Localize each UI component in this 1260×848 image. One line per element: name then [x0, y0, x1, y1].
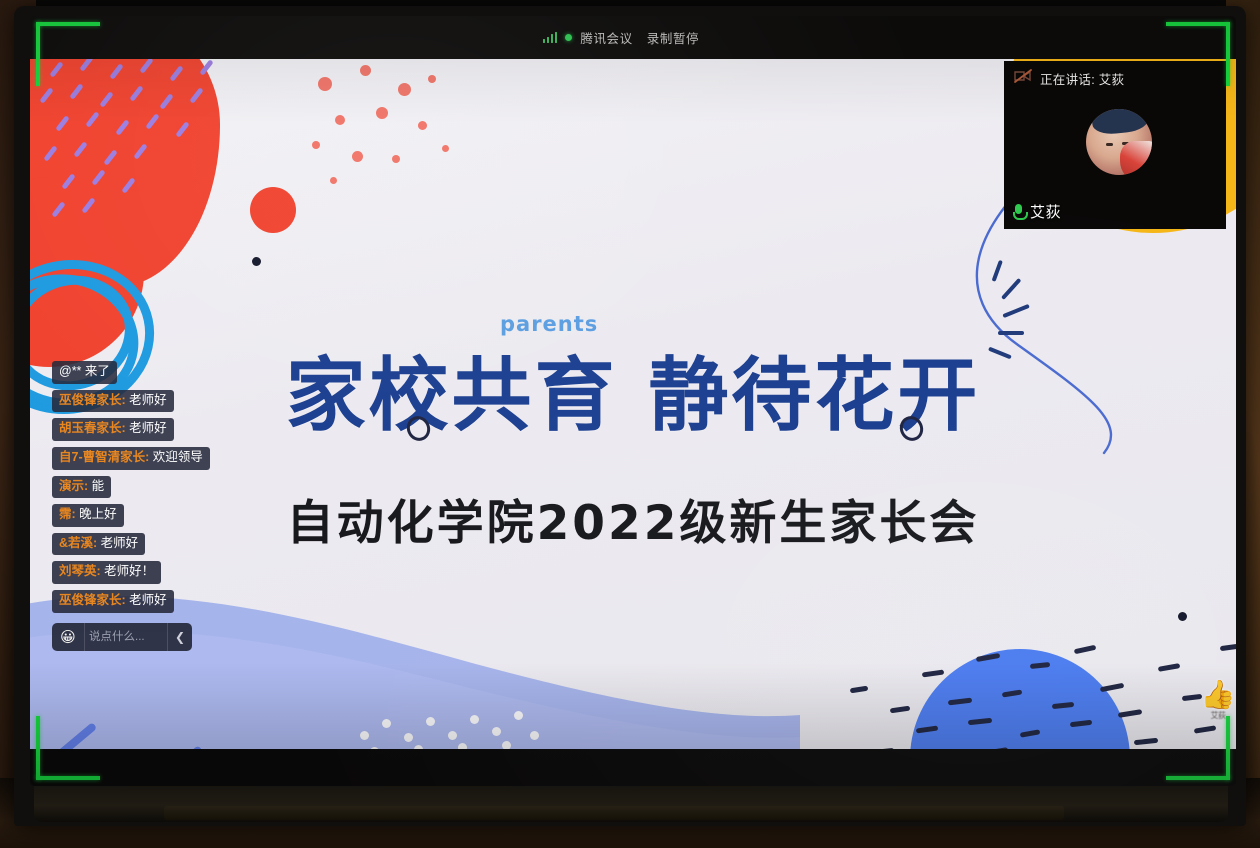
chat-sender-name: 刘琴英:	[59, 564, 104, 578]
chat-message-text: 能	[92, 479, 105, 493]
laptop-photo: 腾讯会议 录制暂停	[0, 0, 1260, 848]
thumbs-up-icon: 👍	[1197, 681, 1236, 709]
chevron-left-icon[interactable]: ❮	[167, 623, 192, 651]
app-name-label: 腾讯会议	[580, 28, 632, 47]
microphone-on-icon	[1012, 204, 1025, 219]
chat-message: 自7-曹智清家长: 欢迎领导	[52, 447, 210, 470]
participant-name-label: 艾荻	[1030, 201, 1061, 222]
chat-message-text: 老师好	[129, 421, 167, 435]
chat-message: 巫俊锋家长: 老师好	[52, 390, 174, 413]
chat-message-text: 老师好	[129, 393, 167, 407]
emoji-smiley-icon[interactable]: 😀	[52, 628, 84, 646]
recording-status-label: 录制暂停	[647, 28, 699, 47]
video-off-icon	[1014, 69, 1032, 83]
chat-sender-name: 胡玉春家长:	[59, 421, 129, 435]
laptop-device: 腾讯会议 录制暂停	[14, 6, 1246, 826]
chat-message-text: 老师好	[101, 536, 139, 550]
chat-message: &若溪: 老师好	[52, 533, 145, 556]
chat-message-text: 老师好！	[104, 564, 154, 578]
chat-sender-name: 自7-曹智清家长:	[59, 450, 153, 464]
participant-video-tile[interactable]: 正在讲话: 艾荻 艾荻	[1004, 61, 1226, 229]
chat-sender-name: 巫俊锋家长:	[59, 593, 129, 607]
chat-sender-name: &若溪:	[59, 536, 101, 550]
chat-message: 演示: 能	[52, 476, 111, 499]
chat-sender-name: 巫俊锋家长:	[59, 393, 129, 407]
meeting-status-bar: 腾讯会议 录制暂停	[30, 16, 1236, 59]
chat-message: 胡玉春家长: 老师好	[52, 418, 174, 441]
chat-message: 霈: 晚上好	[52, 504, 124, 527]
black-dot-decoration	[252, 257, 261, 266]
chat-message-text: 晚上好	[79, 507, 117, 521]
chat-sender-name: 霈:	[59, 507, 79, 521]
participant-name-badge: 艾荻	[1012, 201, 1061, 222]
avatar	[1086, 109, 1152, 175]
chat-input-bar[interactable]: 😀 说点什么... ❮	[52, 623, 192, 651]
chat-message: 刘琴英: 老师好！	[52, 561, 161, 584]
chat-message-text: 老师好	[129, 593, 167, 607]
chat-message: @** 来了	[52, 361, 117, 384]
chat-sender-name: 演示:	[59, 479, 92, 493]
green-dot-icon	[565, 34, 572, 41]
reaction-sender-label: 艾荻	[1197, 710, 1236, 721]
laptop-hinge-lip	[164, 806, 1064, 820]
speaking-status-label: 正在讲话: 艾荻	[1040, 69, 1124, 88]
black-dot-decoration-right	[1178, 612, 1187, 621]
chat-message: 巫俊锋家长: 老师好	[52, 590, 174, 613]
red-dot-decoration	[250, 187, 296, 233]
signal-bars-icon	[543, 32, 558, 43]
laptop-screen: 腾讯会议 录制暂停	[30, 16, 1236, 786]
chat-message-text: @** 来了	[59, 364, 110, 378]
meeting-chat-overlay: @** 来了巫俊锋家长: 老师好胡玉春家长: 老师好自7-曹智清家长: 欢迎领导…	[52, 361, 262, 651]
screen-letterbox-bottom	[30, 749, 1236, 786]
chat-message-text: 欢迎领导	[153, 450, 203, 464]
reaction-overlay: 👍 艾荻	[1197, 681, 1236, 733]
chat-message-input[interactable]: 说点什么...	[84, 623, 167, 651]
